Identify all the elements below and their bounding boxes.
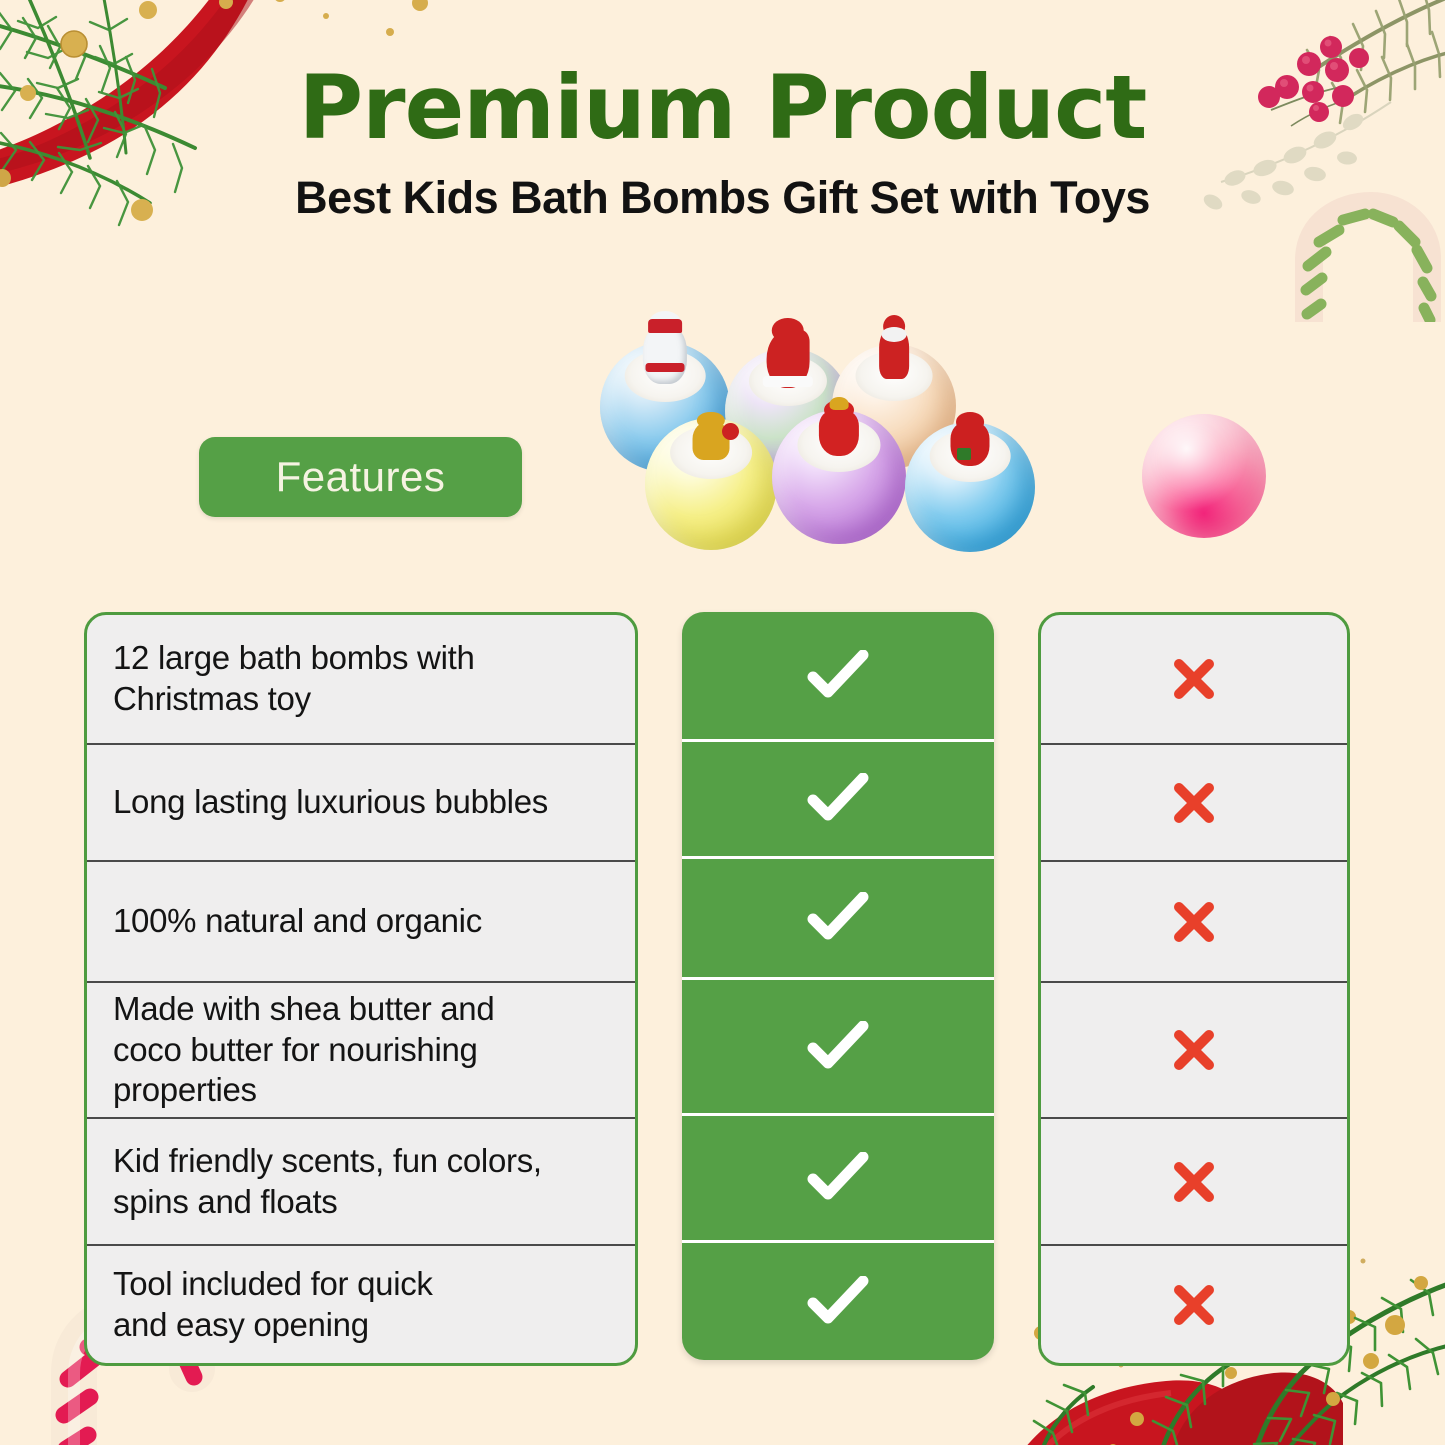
cross-mark-icon — [1170, 1281, 1218, 1329]
feature-label: 100% natural and organic — [113, 901, 482, 942]
feature-label: Long lasting luxurious bubbles — [113, 782, 548, 823]
cross-mark-icon — [1170, 1026, 1218, 1074]
table-row — [682, 859, 994, 980]
purple-gift-sack-bath-bomb — [772, 410, 906, 544]
check-mark-icon — [807, 773, 869, 825]
pink-bath-bomb-sphere — [1142, 414, 1266, 538]
table-row — [682, 1243, 994, 1360]
comparison-table: 12 large bath bombs with Christmas toy L… — [84, 612, 1350, 1366]
check-mark-icon — [807, 892, 869, 944]
features-badge-label: Features — [276, 453, 446, 501]
features-badge: Features — [199, 437, 522, 517]
feature-label: Tool included for quick and easy opening — [113, 1264, 433, 1345]
table-row — [682, 742, 994, 859]
cross-mark-icon — [1170, 1158, 1218, 1206]
features-column: 12 large bath bombs with Christmas toy L… — [84, 612, 638, 1366]
santa-hat-trim — [763, 376, 813, 387]
infographic-canvas: Premium Product Best Kids Bath Bombs Gif… — [0, 0, 1445, 1445]
gift-sack-toy — [819, 410, 859, 456]
table-row — [1041, 1119, 1347, 1246]
check-mark-icon — [807, 1021, 869, 1073]
our-product-column — [682, 612, 994, 1360]
check-mark-icon — [807, 1276, 869, 1328]
table-row — [1041, 862, 1347, 983]
table-row: 12 large bath bombs with Christmas toy — [87, 615, 635, 745]
table-row: 100% natural and organic — [87, 862, 635, 983]
check-mark-icon — [807, 650, 869, 702]
cross-mark-icon — [1170, 779, 1218, 827]
table-row: Tool included for quick and easy opening — [87, 1246, 635, 1363]
santa-figure-head — [882, 327, 907, 342]
cross-mark-icon — [1170, 655, 1218, 703]
feature-label: Kid friendly scents, fun colors, spins a… — [113, 1141, 542, 1222]
header: Premium Product Best Kids Bath Bombs Gif… — [0, 62, 1445, 224]
table-row — [682, 612, 994, 742]
table-row — [1041, 745, 1347, 862]
snowman-scarf — [646, 363, 685, 372]
other-products-column — [1038, 612, 1350, 1366]
feature-label: 12 large bath bombs with Christmas toy — [113, 638, 475, 719]
table-row — [1041, 1246, 1347, 1363]
red-ribbon-bottom-right — [1021, 1373, 1343, 1445]
blue-gift-bag-bath-bomb — [905, 422, 1035, 552]
yellow-bell-bath-bomb — [645, 418, 777, 550]
gift-sack-tie — [830, 397, 849, 410]
table-row — [682, 1116, 994, 1243]
snowman-santa-hat — [648, 319, 682, 333]
table-row: Made with shea butter and coco butter fo… — [87, 983, 635, 1119]
table-row — [1041, 615, 1347, 745]
table-row — [682, 980, 994, 1116]
table-row — [1041, 983, 1347, 1119]
page-subtitle: Best Kids Bath Bombs Gift Set with Toys — [0, 172, 1445, 224]
check-mark-icon — [807, 1152, 869, 1204]
feature-label: Made with shea butter and coco butter fo… — [113, 989, 494, 1111]
snowman-toy — [643, 324, 687, 384]
page-title: Premium Product — [0, 62, 1445, 154]
cross-mark-icon — [1170, 898, 1218, 946]
product-image-group — [560, 300, 1320, 560]
table-row: Long lasting luxurious bubbles — [87, 745, 635, 862]
bell-ribbon — [722, 423, 739, 440]
gift-bag-tag — [957, 448, 971, 460]
table-row: Kid friendly scents, fun colors, spins a… — [87, 1119, 635, 1246]
